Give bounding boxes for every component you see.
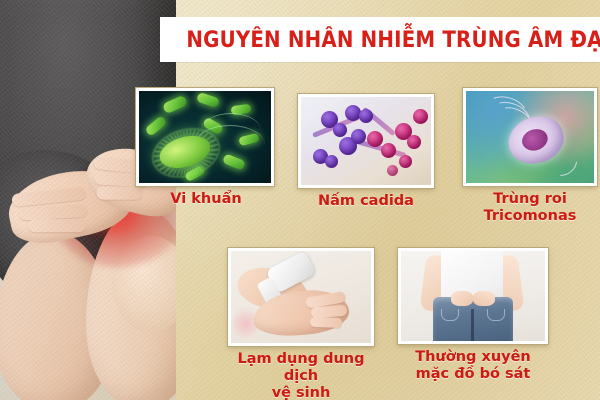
card-caption-candida: Nấm cadida (298, 193, 434, 210)
page-title: NGUYÊN NHÂN NHIỄM TRÙNG ÂM ĐẠO (186, 28, 573, 51)
title-banner: NGUYÊN NHÂN NHIỄM TRÙNG ÂM ĐẠO (160, 17, 600, 62)
card-caption-tricomonas: Trùng roi Tricomonas (463, 191, 597, 225)
infographic-canvas: NGUYÊN NHÂN NHIỄM TRÙNG ÂM ĐẠO Vi khuẩn (0, 0, 600, 400)
jeans-seam (471, 309, 474, 344)
hygiene-thumbnail[interactable] (228, 248, 374, 346)
bacteria-thumbnail[interactable] (136, 88, 274, 186)
tight-clothes-image (401, 251, 545, 341)
card-caption-bacteria: Vi khuẩn (136, 191, 276, 208)
right-hand-buttoning (473, 291, 495, 306)
card-hygiene-liquid[interactable]: Lạm dụng dung dịch vệ sinh (228, 248, 374, 400)
tricomonas-image (466, 91, 594, 183)
candida-thumbnail[interactable] (298, 94, 434, 188)
tricomonas-thumbnail[interactable] (463, 88, 597, 186)
tight-clothes-thumbnail[interactable] (398, 248, 548, 344)
card-bacteria[interactable]: Vi khuẩn (136, 88, 276, 208)
hygiene-image (231, 251, 371, 343)
bacteria-image (139, 91, 271, 183)
candida-image (301, 97, 431, 185)
card-caption-hygiene: Lạm dụng dung dịch vệ sinh (228, 351, 374, 400)
card-tight-clothes[interactable]: Thường xuyên mặc đồ bó sát (398, 248, 548, 383)
card-tricomonas[interactable]: Trùng roi Tricomonas (463, 88, 597, 225)
protozoan-nucleus (519, 126, 550, 154)
card-caption-tight-clothes: Thường xuyên mặc đồ bó sát (398, 349, 548, 383)
card-candida[interactable]: Nấm cadida (298, 94, 434, 210)
left-hand-buttoning (451, 291, 473, 306)
